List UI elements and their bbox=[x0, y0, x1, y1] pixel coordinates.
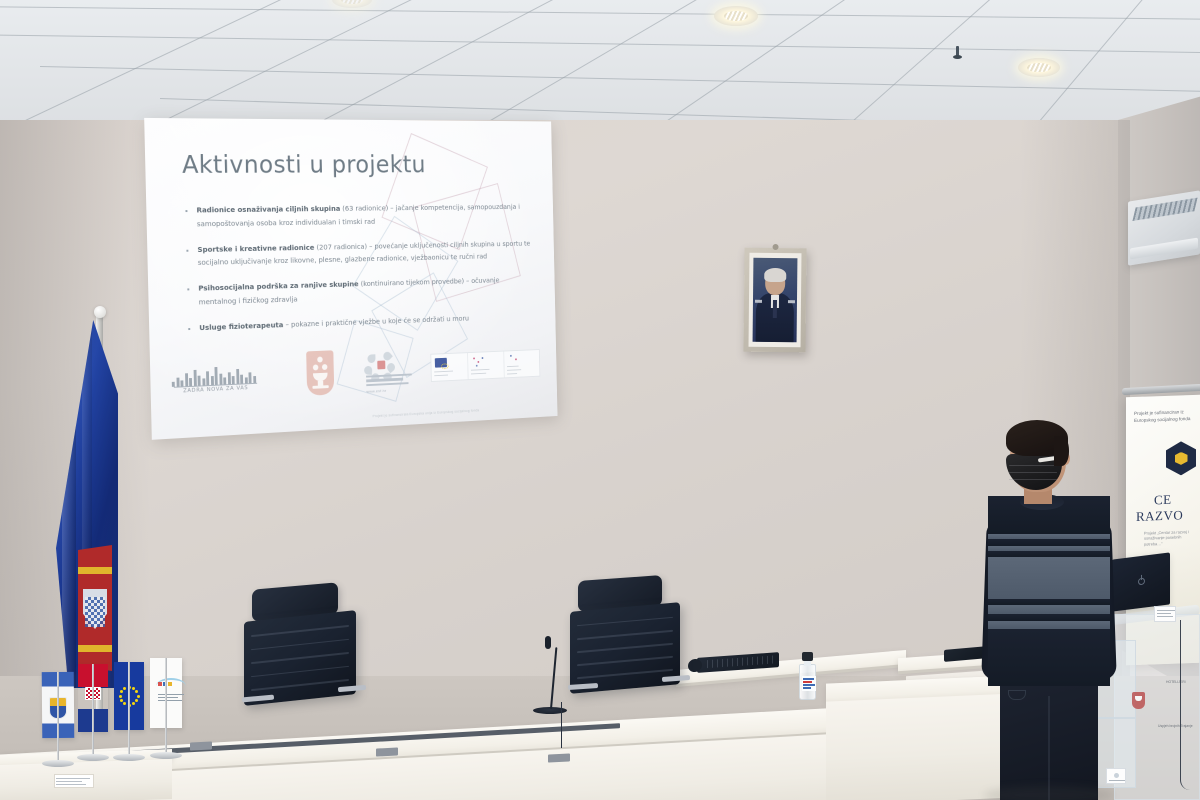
coa-dot bbox=[313, 364, 319, 370]
banner-top-text: Projekt je sufinanciran iz Europskog soc… bbox=[1134, 409, 1196, 424]
flag-emblem-band bbox=[78, 645, 112, 652]
chair-right bbox=[570, 578, 690, 708]
desk-cable-clip bbox=[190, 741, 212, 750]
portrait-epaulette bbox=[755, 300, 762, 303]
sweater-stripe bbox=[988, 621, 1110, 629]
skyline-bar bbox=[210, 376, 213, 385]
flag-rod bbox=[128, 662, 130, 756]
skyline-bar bbox=[185, 373, 189, 386]
coa-dot bbox=[322, 364, 328, 370]
slide-title: Aktivnosti u projektu bbox=[182, 150, 426, 179]
esf-text-bars bbox=[366, 373, 412, 388]
mask-pleat bbox=[1009, 465, 1057, 466]
ceiling-grid-line bbox=[0, 34, 1200, 55]
downlight-diffuser bbox=[724, 11, 749, 21]
chair-rib bbox=[251, 639, 350, 651]
flag-emblem-checker bbox=[85, 597, 105, 627]
eu-stars-icon bbox=[440, 363, 448, 369]
mask-pleat bbox=[1009, 479, 1057, 480]
ceiling bbox=[0, 0, 1200, 132]
presenter bbox=[986, 424, 1112, 800]
banner-hexagon-logo-icon bbox=[1166, 441, 1196, 476]
esf-logo: www.esf.hr bbox=[360, 349, 414, 395]
eu-text-line bbox=[507, 373, 517, 375]
desk-cable-clip bbox=[548, 753, 570, 762]
eu-logo-cell bbox=[504, 350, 539, 377]
presenter-hair-side bbox=[1054, 436, 1069, 466]
ceiling-grid-line bbox=[840, 0, 1001, 132]
eu-star bbox=[120, 699, 123, 702]
sweater-stripe bbox=[988, 557, 1110, 599]
ceiling-grid-line bbox=[300, 0, 570, 132]
microphone-on-upper-desk[interactable] bbox=[537, 614, 569, 688]
banner-title-line1: CE bbox=[1154, 492, 1172, 509]
desk-cable-clip bbox=[376, 747, 398, 756]
eu-star bbox=[120, 690, 123, 693]
projection-screen: Aktivnosti u projektu ▪ Radionice osnaži… bbox=[144, 118, 557, 440]
eu-star bbox=[135, 699, 138, 702]
conference-room-scene: Aktivnosti u projektu ▪ Radionice osnaži… bbox=[0, 0, 1200, 800]
eu-funding-logo-strip bbox=[430, 349, 540, 382]
bullet-text: Psihosocijalna podrška za ranjive skupin… bbox=[198, 273, 533, 308]
flag-rod bbox=[165, 658, 167, 754]
flag-base bbox=[150, 752, 182, 759]
skyline-bar bbox=[219, 374, 222, 385]
mic-cable bbox=[561, 702, 583, 748]
chair-rib bbox=[251, 679, 350, 691]
sweater-stripe bbox=[988, 629, 1110, 686]
lectern-coat-of-arms-icon bbox=[1132, 692, 1145, 709]
esf-petal bbox=[364, 366, 373, 375]
ceiling-downlight-2 bbox=[1018, 58, 1060, 77]
slide-bullet-list: ▪ Radionice osnaživanja ciljnih skupina … bbox=[185, 200, 535, 347]
info-card-1 bbox=[1154, 606, 1176, 622]
eu-dots-icon bbox=[507, 353, 537, 354]
ceiling-downlight-1 bbox=[714, 6, 758, 26]
bullet-dot-icon: ▪ bbox=[187, 282, 193, 309]
downlight-diffuser bbox=[1027, 63, 1051, 73]
flag-emblem-band bbox=[78, 567, 112, 574]
skyline-bar bbox=[206, 371, 210, 385]
ac-lower-panel bbox=[1130, 238, 1198, 260]
skyline-bar bbox=[214, 367, 218, 385]
bullet-dot-icon: ▪ bbox=[186, 243, 192, 270]
eu-star bbox=[119, 695, 122, 698]
esf-center-square bbox=[377, 360, 385, 369]
keyboard-keys bbox=[707, 655, 775, 668]
eu-text-line bbox=[434, 371, 453, 373]
eu-text-line bbox=[471, 373, 486, 375]
eu-text-line bbox=[434, 375, 448, 377]
bullet-text: Radionice osnaživanja ciljnih skupina (6… bbox=[196, 200, 532, 230]
laptop-logo-icon bbox=[1138, 578, 1145, 586]
sweater-stripe bbox=[988, 614, 1110, 621]
bullet-bold-text: Usluge fizioterapeuta bbox=[199, 320, 283, 332]
presenter-sweater bbox=[988, 496, 1110, 686]
large-flag-emblem bbox=[78, 545, 112, 671]
coa-base bbox=[312, 385, 328, 389]
sanitizer-pump-icon[interactable] bbox=[802, 652, 813, 661]
chair-rib bbox=[251, 625, 350, 637]
slide-bullet-item: ▪ Radionice osnaživanja ciljnih skupina … bbox=[185, 200, 532, 230]
chair-armrest bbox=[662, 675, 690, 682]
flag-base bbox=[42, 760, 74, 767]
eu-star bbox=[132, 687, 135, 690]
bullet-rest-text: – pokazne i praktične vježbe u koje će s… bbox=[283, 313, 469, 328]
coa-dot bbox=[317, 357, 323, 363]
framed-portrait bbox=[743, 248, 806, 353]
ac-vent-grille bbox=[1132, 198, 1197, 221]
eu-star bbox=[137, 695, 140, 698]
eu-text-line bbox=[507, 366, 519, 368]
eu-star bbox=[135, 690, 138, 693]
sanitizer-label bbox=[802, 676, 816, 691]
skyline-bar bbox=[236, 369, 240, 384]
esf-flower-icon bbox=[360, 349, 413, 351]
desk-flag-croatia bbox=[76, 664, 116, 774]
device-knob-icon bbox=[688, 659, 702, 673]
lectern-body-text: Uspjeh brojnih Trajanje bbox=[1158, 724, 1198, 729]
eu-text-line bbox=[507, 369, 521, 371]
eu-star bbox=[123, 687, 126, 690]
eu-logo-cell bbox=[468, 352, 505, 380]
flag-base bbox=[77, 754, 109, 761]
flag-rod bbox=[57, 672, 59, 762]
projected-slide: Aktivnosti u projektu ▪ Radionice osnaži… bbox=[144, 118, 557, 440]
skyline-bar bbox=[193, 370, 197, 386]
portrait-tie bbox=[773, 300, 776, 318]
chair-rib bbox=[577, 669, 674, 679]
eu-logo-cell bbox=[431, 353, 468, 381]
slide-bullet-item: ▪ Sportske i kreativne radionice (207 ra… bbox=[186, 237, 533, 270]
flag-rod bbox=[92, 664, 94, 756]
bullet-text: Sportske i kreativne radionice (207 radi… bbox=[197, 237, 533, 270]
eu-star bbox=[123, 702, 126, 705]
bullet-dot-icon: ▪ bbox=[188, 321, 194, 335]
zadra-nova-logo: ZADRA NOVA ZA VAS bbox=[171, 359, 259, 403]
zadar-coat-of-arms-icon bbox=[306, 350, 334, 396]
bullet-bold-text: Psihosocijalna podrška za ranjive skupin… bbox=[198, 279, 358, 292]
bullet-dot-icon: ▪ bbox=[185, 204, 191, 231]
sweater-stripe bbox=[988, 539, 1110, 546]
slide-bullet-item: ▪ Psihosocijalna podrška za ranjive skup… bbox=[187, 273, 534, 309]
portrait-image bbox=[753, 258, 798, 342]
skyline-bar bbox=[232, 376, 235, 384]
desk-flag-county bbox=[40, 672, 80, 778]
esf-url-label: www.esf.hr bbox=[366, 388, 386, 394]
chair-rib bbox=[577, 643, 674, 653]
skyline-bar bbox=[176, 378, 179, 387]
floor-shadow bbox=[984, 786, 1114, 800]
ceiling-grid-line bbox=[0, 6, 1200, 21]
air-conditioner-unit bbox=[1128, 190, 1200, 265]
portrait-hair bbox=[764, 268, 786, 282]
jeans-pocket bbox=[1008, 690, 1026, 700]
sprinkler-head bbox=[953, 46, 962, 62]
eu-text-line bbox=[471, 369, 490, 371]
chair-rib bbox=[577, 656, 674, 666]
eu-dots-icon bbox=[471, 354, 501, 355]
desk-flag-zadra-nova bbox=[148, 658, 192, 772]
slide-bullet-item: ▪ Usluge fizioterapeuta – pokazne i prak… bbox=[188, 309, 534, 335]
sweater-stripe bbox=[988, 605, 1110, 614]
skyline-bar bbox=[240, 375, 243, 384]
chair-rib bbox=[577, 617, 674, 627]
flag-base bbox=[113, 754, 145, 761]
skyline-bar bbox=[248, 372, 251, 383]
flag-pole-finial bbox=[94, 306, 106, 318]
picture-hook-icon bbox=[773, 244, 779, 250]
zadra-arc-icon bbox=[156, 678, 186, 694]
skyline-bar bbox=[227, 372, 230, 384]
banner-title-line2: RAZVO bbox=[1136, 507, 1183, 525]
desk-flag-eu bbox=[112, 662, 152, 774]
lectern-cable bbox=[1180, 620, 1190, 790]
ceiling-grid-line bbox=[140, 0, 430, 132]
leg-seam bbox=[1048, 696, 1050, 800]
portrait-epaulette bbox=[788, 300, 795, 303]
skyline-bar bbox=[189, 378, 192, 386]
esf-petal bbox=[367, 354, 375, 363]
eu-flag-icon bbox=[435, 358, 447, 368]
chair-rib bbox=[577, 630, 674, 640]
bullet-text: Usluge fizioterapeuta – pokazne i prakti… bbox=[199, 312, 469, 335]
bullet-bold-text: Radionice osnaživanja ciljnih skupina bbox=[196, 204, 340, 214]
presenter-legs bbox=[1000, 676, 1098, 800]
downlight-diffuser bbox=[341, 0, 363, 4]
chair-rib bbox=[251, 652, 350, 664]
skyline-bar bbox=[198, 376, 201, 386]
chair-rib bbox=[251, 665, 350, 677]
eu-star bbox=[132, 702, 135, 705]
bullet-bold-text: Sportske i kreativne radionice bbox=[197, 242, 314, 253]
mask-pleat bbox=[1009, 472, 1057, 473]
